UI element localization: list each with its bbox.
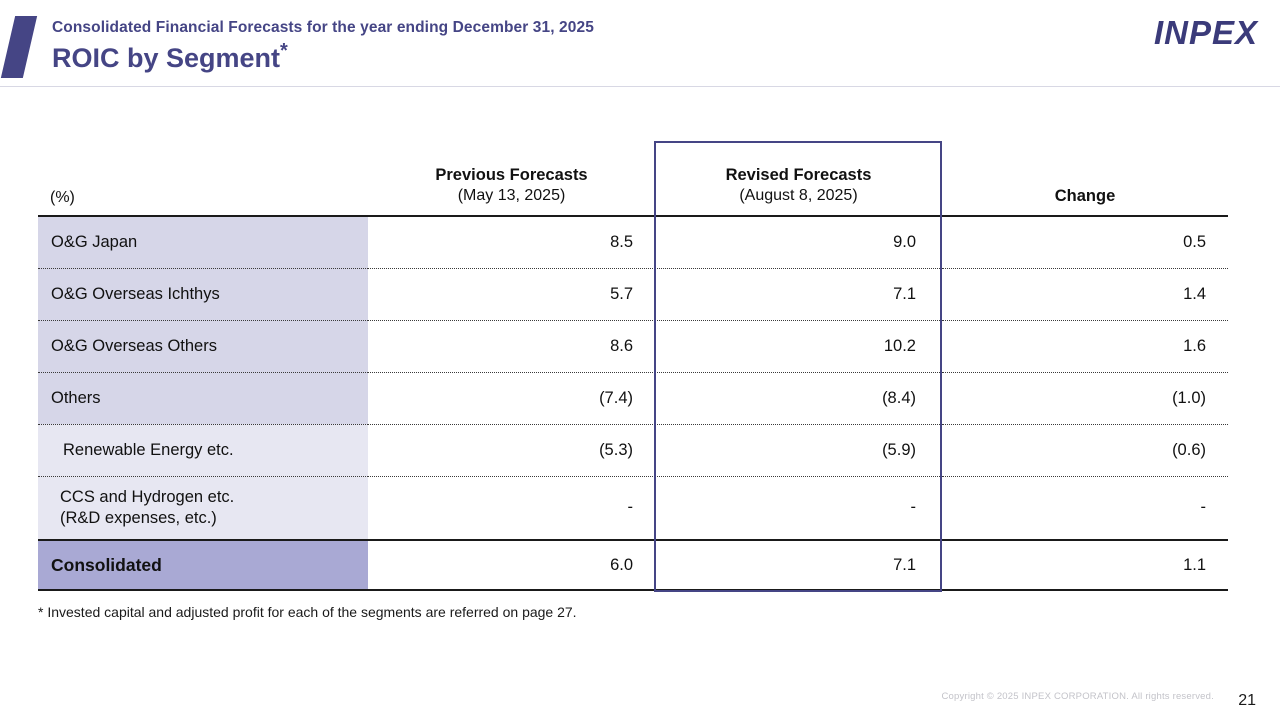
- table-row: O&G Overseas Others 8.6 10.2 1.6: [38, 320, 1228, 372]
- cell-revised: 7.1: [655, 540, 942, 590]
- cell-revised: -: [655, 476, 942, 540]
- cell-previous: (7.4): [368, 372, 655, 424]
- accent-bar-icon: [1, 16, 37, 78]
- cell-change: 1.4: [942, 268, 1228, 320]
- table-row: O&G Overseas Ichthys 5.7 7.1 1.4: [38, 268, 1228, 320]
- column-header-previous-title: Previous Forecasts: [368, 165, 655, 186]
- unit-label: (%): [38, 138, 368, 216]
- table-row: CCS and Hydrogen etc. (R&D expenses, etc…: [38, 476, 1228, 540]
- table-header-row: (%) Previous Forecasts (May 13, 2025) Re…: [38, 138, 1228, 216]
- copyright-notice: Copyright © 2025 INPEX CORPORATION. All …: [941, 691, 1214, 702]
- cell-change: 1.1: [942, 540, 1228, 590]
- cell-revised: 7.1: [655, 268, 942, 320]
- cell-change: 1.6: [942, 320, 1228, 372]
- row-label-ccs-hydrogen-line1: CCS and Hydrogen etc.: [60, 487, 368, 508]
- cell-previous: (5.3): [368, 424, 655, 476]
- row-label-ccs-hydrogen: CCS and Hydrogen etc. (R&D expenses, etc…: [38, 476, 368, 540]
- table-row: Renewable Energy etc. (5.3) (5.9) (0.6): [38, 424, 1228, 476]
- footnote: * Invested capital and adjusted profit f…: [38, 604, 577, 620]
- row-label-ccs-hydrogen-line2: (R&D expenses, etc.): [60, 508, 368, 529]
- table-row-total: Consolidated 6.0 7.1 1.1: [38, 540, 1228, 590]
- cell-revised: (8.4): [655, 372, 942, 424]
- page-title: ROIC by Segment*: [52, 39, 594, 75]
- row-label-og-overseas-ichthys: O&G Overseas Ichthys: [38, 268, 368, 320]
- page-title-text: ROIC by Segment: [52, 43, 280, 73]
- cell-revised: (5.9): [655, 424, 942, 476]
- row-label-og-japan: O&G Japan: [38, 216, 368, 268]
- page-title-asterisk: *: [280, 40, 288, 62]
- column-header-change-title: Change: [942, 186, 1228, 207]
- cell-change: (0.6): [942, 424, 1228, 476]
- table-header: (%) Previous Forecasts (May 13, 2025) Re…: [38, 138, 1228, 216]
- column-header-revised-title: Revised Forecasts: [655, 165, 942, 186]
- inpex-logo: INPEX: [1154, 14, 1258, 52]
- cell-revised: 9.0: [655, 216, 942, 268]
- table-row: Others (7.4) (8.4) (1.0): [38, 372, 1228, 424]
- cell-previous: 8.6: [368, 320, 655, 372]
- column-header-revised-date: (August 8, 2025): [655, 186, 942, 207]
- cell-previous: -: [368, 476, 655, 540]
- page-number: 21: [1238, 692, 1256, 710]
- roic-table: (%) Previous Forecasts (May 13, 2025) Re…: [38, 138, 1228, 591]
- header-divider: [0, 86, 1280, 87]
- row-label-renewable-energy: Renewable Energy etc.: [38, 424, 368, 476]
- cell-previous: 6.0: [368, 540, 655, 590]
- row-label-og-overseas-others: O&G Overseas Others: [38, 320, 368, 372]
- roic-table-wrap: (%) Previous Forecasts (May 13, 2025) Re…: [38, 138, 1228, 591]
- slide-header: Consolidated Financial Forecasts for the…: [0, 0, 1280, 92]
- row-label-others: Others: [38, 372, 368, 424]
- cell-previous: 5.7: [368, 268, 655, 320]
- slide: Consolidated Financial Forecasts for the…: [0, 0, 1280, 720]
- title-block: Consolidated Financial Forecasts for the…: [52, 18, 594, 75]
- table-body: O&G Japan 8.5 9.0 0.5 O&G Overseas Ichth…: [38, 216, 1228, 590]
- table-row: O&G Japan 8.5 9.0 0.5: [38, 216, 1228, 268]
- column-header-previous-date: (May 13, 2025): [368, 186, 655, 207]
- cell-change: -: [942, 476, 1228, 540]
- column-header-revised: Revised Forecasts (August 8, 2025): [655, 138, 942, 216]
- cell-previous: 8.5: [368, 216, 655, 268]
- cell-revised: 10.2: [655, 320, 942, 372]
- cell-change: 0.5: [942, 216, 1228, 268]
- cell-change: (1.0): [942, 372, 1228, 424]
- column-header-change: Change: [942, 138, 1228, 216]
- row-label-consolidated: Consolidated: [38, 540, 368, 590]
- header-eyebrow: Consolidated Financial Forecasts for the…: [52, 18, 594, 37]
- column-header-previous: Previous Forecasts (May 13, 2025): [368, 138, 655, 216]
